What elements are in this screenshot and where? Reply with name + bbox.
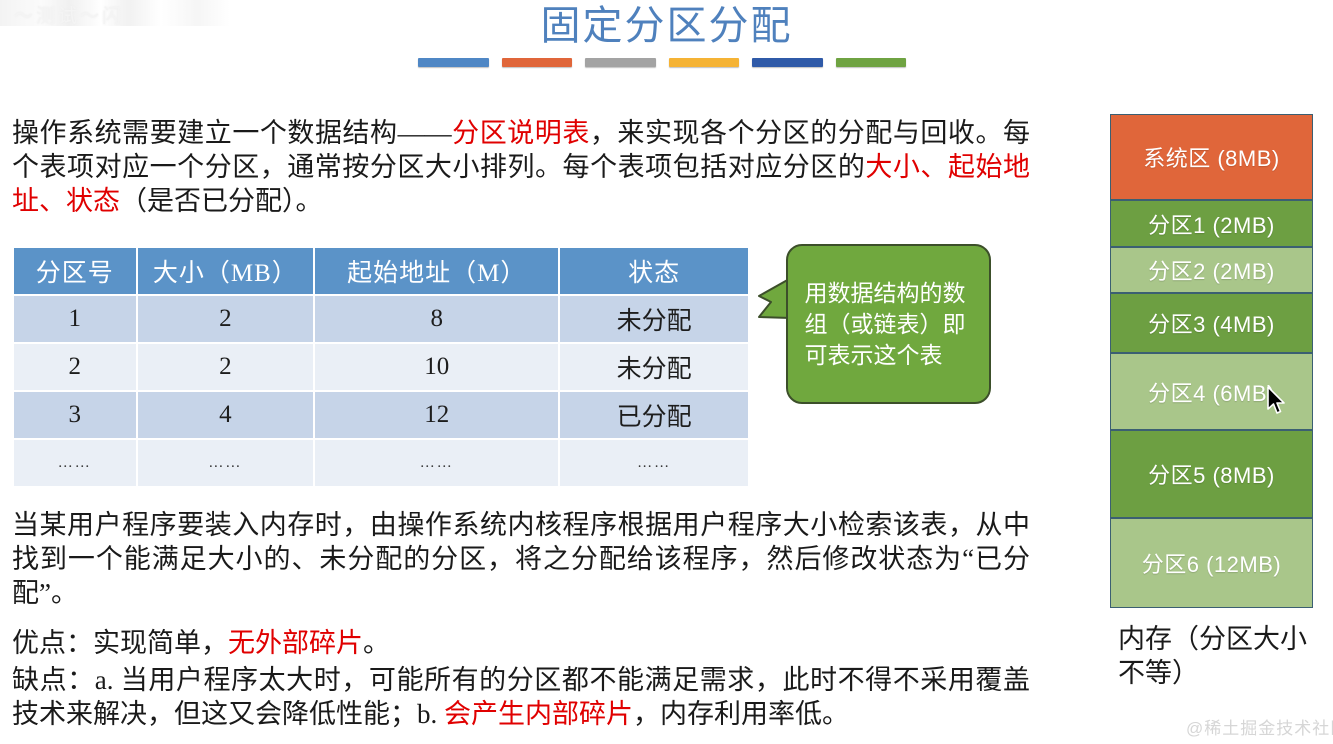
cell-start-address: 12 bbox=[315, 392, 558, 438]
table-row: 1 2 8 未分配 bbox=[14, 296, 748, 342]
memory-block-label: 分区3 (4MB) bbox=[1148, 307, 1275, 339]
memory-block-label: 分区5 (8MB) bbox=[1148, 458, 1275, 490]
pros-paragraph: 优点：实现简单，无外部碎片。 bbox=[12, 626, 1030, 660]
pros-tail: 。 bbox=[363, 628, 390, 658]
memory-block-label: 分区2 (2MB) bbox=[1148, 254, 1275, 286]
memory-layout-diagram: 系统区 (8MB)分区1 (2MB)分区2 (2MB)分区3 (4MB)分区4 … bbox=[1110, 114, 1313, 608]
cell-status: 未分配 bbox=[560, 344, 748, 390]
pros-label: 优点：实现简单， bbox=[12, 628, 228, 658]
cell-partition-id: …… bbox=[14, 440, 136, 486]
memory-block-label: 分区6 (12MB) bbox=[1142, 547, 1281, 579]
cell-status: …… bbox=[560, 440, 748, 486]
cell-partition-id: 2 bbox=[14, 344, 136, 390]
cell-status: 已分配 bbox=[560, 392, 748, 438]
pros-highlight: 无外部碎片 bbox=[228, 628, 363, 658]
callout-text: 用数据结构的数组（或链表）即可表示这个表 bbox=[805, 278, 973, 371]
cell-status: 未分配 bbox=[560, 296, 748, 342]
table-row: 2 2 10 未分配 bbox=[14, 344, 748, 390]
accent-bar-amber bbox=[669, 58, 740, 67]
table-header-status: 状态 bbox=[560, 248, 748, 294]
cons-highlight: 会产生内部碎片 bbox=[444, 699, 633, 729]
memory-block-partition-1: 分区1 (2MB) bbox=[1110, 200, 1313, 247]
memory-diagram-caption: 内存（分区大小不等） bbox=[1118, 622, 1318, 690]
cell-start-address: 10 bbox=[315, 344, 558, 390]
cell-start-address: …… bbox=[315, 440, 558, 486]
cons-paragraph: 缺点：a. 当用户程序太大时，可能所有的分区都不能满足需求，此时不得不采用覆盖技… bbox=[12, 663, 1030, 731]
memory-block-partition-3: 分区3 (4MB) bbox=[1110, 293, 1313, 353]
cons-tail: ，内存利用率低。 bbox=[633, 699, 849, 729]
table-row: 3 4 12 已分配 bbox=[14, 392, 748, 438]
table-row: …… …… …… …… bbox=[14, 440, 748, 486]
accent-bar-gray bbox=[585, 58, 656, 67]
memory-block-partition-5: 分区5 (8MB) bbox=[1110, 430, 1313, 518]
mouse-cursor-icon bbox=[1266, 386, 1288, 416]
cell-size: 2 bbox=[138, 344, 314, 390]
allocation-paragraph: 当某用户程序要装入内存时，由操作系统内核程序根据用户程序大小检索该表，从中找到一… bbox=[12, 508, 1030, 610]
slide-canvas: ～测试～闪 固定分区分配 操作系统需要建立一个数据结构——分区说明表，来实现各个… bbox=[0, 0, 1333, 744]
memory-block-label: 分区1 (2MB) bbox=[1148, 208, 1275, 240]
watermark: @稀土掘金技术社区 bbox=[1186, 714, 1333, 739]
cell-partition-id: 1 bbox=[14, 296, 136, 342]
accent-bar-green bbox=[836, 58, 907, 67]
cell-partition-id: 3 bbox=[14, 392, 136, 438]
table-header-size: 大小（MB） bbox=[138, 248, 314, 294]
page-title: 固定分区分配 bbox=[0, 2, 1333, 50]
memory-block-partition-2: 分区2 (2MB) bbox=[1110, 247, 1313, 293]
table-header-start-address: 起始地址（M） bbox=[315, 248, 558, 294]
title-accent-bars bbox=[418, 58, 906, 67]
cell-size: …… bbox=[138, 440, 314, 486]
memory-block-label: 分区4 (6MB) bbox=[1148, 376, 1275, 408]
intro-highlight-partition-table: 分区说明表 bbox=[452, 118, 590, 148]
table-header-row: 分区号 大小（MB） 起始地址（M） 状态 bbox=[14, 248, 748, 294]
memory-block-system: 系统区 (8MB) bbox=[1110, 114, 1313, 200]
memory-block-label: 系统区 (8MB) bbox=[1143, 141, 1280, 173]
cell-size: 4 bbox=[138, 392, 314, 438]
partition-description-table: 分区号 大小（MB） 起始地址（M） 状态 1 2 8 未分配 2 2 10 未… bbox=[12, 246, 750, 488]
table-header-partition-id: 分区号 bbox=[14, 248, 136, 294]
memory-block-partition-6: 分区6 (12MB) bbox=[1110, 518, 1313, 608]
intro-text-1: 操作系统需要建立一个数据结构—— bbox=[12, 118, 452, 148]
accent-bar-dark-blue bbox=[752, 58, 823, 67]
intro-paragraph: 操作系统需要建立一个数据结构——分区说明表，来实现各个分区的分配与回收。每个表项… bbox=[12, 116, 1030, 218]
accent-bar-orange bbox=[502, 58, 573, 67]
accent-bar-blue bbox=[418, 58, 489, 67]
intro-text-3: （是否已分配）。 bbox=[120, 186, 323, 216]
cell-start-address: 8 bbox=[315, 296, 558, 342]
callout-bubble: 用数据结构的数组（或链表）即可表示这个表 bbox=[786, 244, 991, 404]
cell-size: 2 bbox=[138, 296, 314, 342]
